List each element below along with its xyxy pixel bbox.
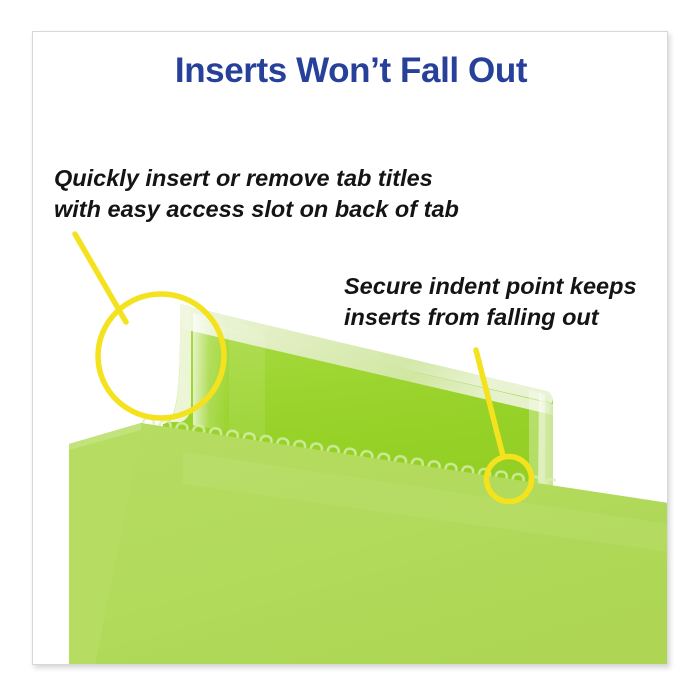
product-info-panel: Inserts Won’t Fall Out Quickly insert or…	[32, 31, 668, 665]
left-callout-text: Quickly insert or remove tab titles with…	[54, 163, 459, 225]
left-callout-line-2: with easy access slot on back of tab	[54, 194, 459, 225]
product-photo	[33, 32, 667, 664]
left-callout-line-1: Quickly insert or remove tab titles	[54, 163, 459, 194]
right-callout-text: Secure indent point keeps inserts from f…	[344, 271, 637, 333]
right-callout-line-2: inserts from falling out	[344, 302, 637, 333]
product-photo-illustration	[33, 32, 667, 664]
page-title: Inserts Won’t Fall Out	[33, 51, 668, 91]
right-callout-line-1: Secure indent point keeps	[344, 271, 637, 302]
screenshot-root: Inserts Won’t Fall Out Quickly insert or…	[0, 0, 700, 700]
